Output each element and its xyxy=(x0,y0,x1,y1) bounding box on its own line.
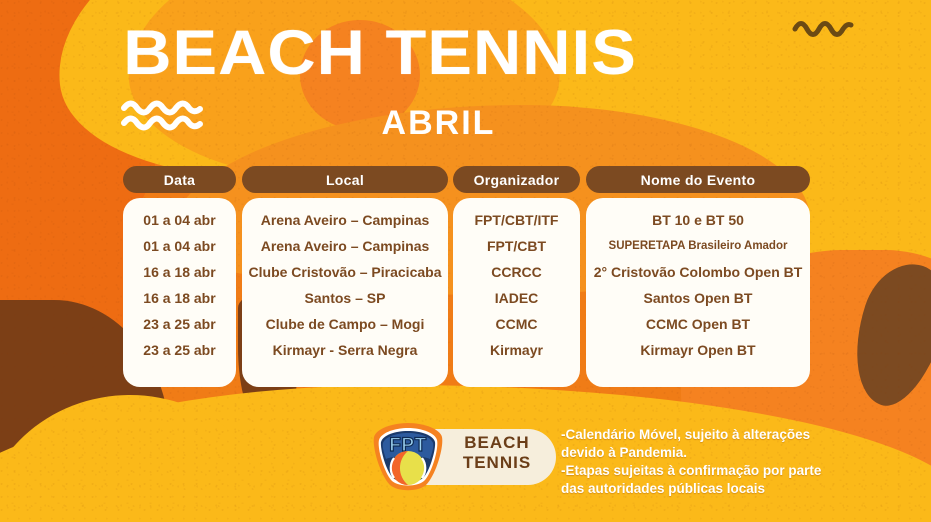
table-cell: 01 a 04 abr xyxy=(123,233,236,259)
table-cell: 01 a 04 abr xyxy=(123,207,236,233)
column-header: Organizador xyxy=(453,166,580,193)
column-body: FPT/CBT/ITF FPT/CBT CCRCC IADEC CCMC Kir… xyxy=(453,198,580,387)
table-cell: 16 a 18 abr xyxy=(123,259,236,285)
column-body: 01 a 04 abr 01 a 04 abr 16 a 18 abr 16 a… xyxy=(123,198,236,387)
table-cell: CCMC Open BT xyxy=(586,311,810,337)
column-header: Data xyxy=(123,166,236,193)
table-cell: Santos Open BT xyxy=(586,285,810,311)
note-line-2: devido à Pandemia. xyxy=(561,444,925,462)
column-header: Local xyxy=(242,166,448,193)
fpt-beach-tennis-logo: BEACH TENNIS FPT xyxy=(370,421,556,493)
logo-line-1: BEACH xyxy=(448,433,546,453)
table-column-nome-do-evento: Nome do Evento BT 10 e BT 50 SUPERETAPA … xyxy=(586,166,810,387)
table-cell: FPT/CBT/ITF xyxy=(453,207,580,233)
table-cell: Kirmayr - Serra Negra xyxy=(242,337,448,363)
table-cell: Clube de Campo – Mogi xyxy=(242,311,448,337)
column-header: Nome do Evento xyxy=(586,166,810,193)
table-cell: 2° Cristovão Colombo Open BT xyxy=(586,259,810,285)
fpt-shield-icon: FPT xyxy=(370,421,446,493)
note-line-1: -Calendário Móvel, sujeito à alterações xyxy=(561,426,925,444)
table-cell: Kirmayr Open BT xyxy=(586,337,810,363)
table-cell: Clube Cristovão – Piracicaba xyxy=(242,259,448,285)
table-cell: BT 10 e BT 50 xyxy=(586,207,810,233)
note-line-3: -Etapas sujeitas à confirmação por parte xyxy=(561,462,925,480)
column-body: BT 10 e BT 50 SUPERETAPA Brasileiro Amad… xyxy=(586,198,810,387)
table-cell: 23 a 25 abr xyxy=(123,337,236,363)
logo-line-2: TENNIS xyxy=(448,453,546,473)
table-cell: 23 a 25 abr xyxy=(123,311,236,337)
table-cell: Kirmayr xyxy=(453,337,580,363)
note-line-4: das autoridades públicas locais xyxy=(561,480,925,498)
logo-text: BEACH TENNIS xyxy=(448,433,546,473)
table-cell: FPT/CBT xyxy=(453,233,580,259)
table-cell: CCMC xyxy=(453,311,580,337)
footer-note: -Calendário Móvel, sujeito à alterações … xyxy=(561,426,925,498)
table-cell: IADEC xyxy=(453,285,580,311)
poster-canvas: BEACH TENNIS ABRIL Data 01 a 04 abr 01 a… xyxy=(0,0,931,522)
table-cell: Arena Aveiro – Campinas xyxy=(242,233,448,259)
table-column-local: Local Arena Aveiro – Campinas Arena Avei… xyxy=(242,166,448,387)
table-column-data: Data 01 a 04 abr 01 a 04 abr 16 a 18 abr… xyxy=(123,166,236,387)
table-cell: CCRCC xyxy=(453,259,580,285)
table-cell: 16 a 18 abr xyxy=(123,285,236,311)
table-cell: Santos – SP xyxy=(242,285,448,311)
table-cell: SUPERETAPA Brasileiro Amador xyxy=(586,233,810,259)
table-cell: Arena Aveiro – Campinas xyxy=(242,207,448,233)
table-column-organizador: Organizador FPT/CBT/ITF FPT/CBT CCRCC IA… xyxy=(453,166,580,387)
column-body: Arena Aveiro – Campinas Arena Aveiro – C… xyxy=(242,198,448,387)
